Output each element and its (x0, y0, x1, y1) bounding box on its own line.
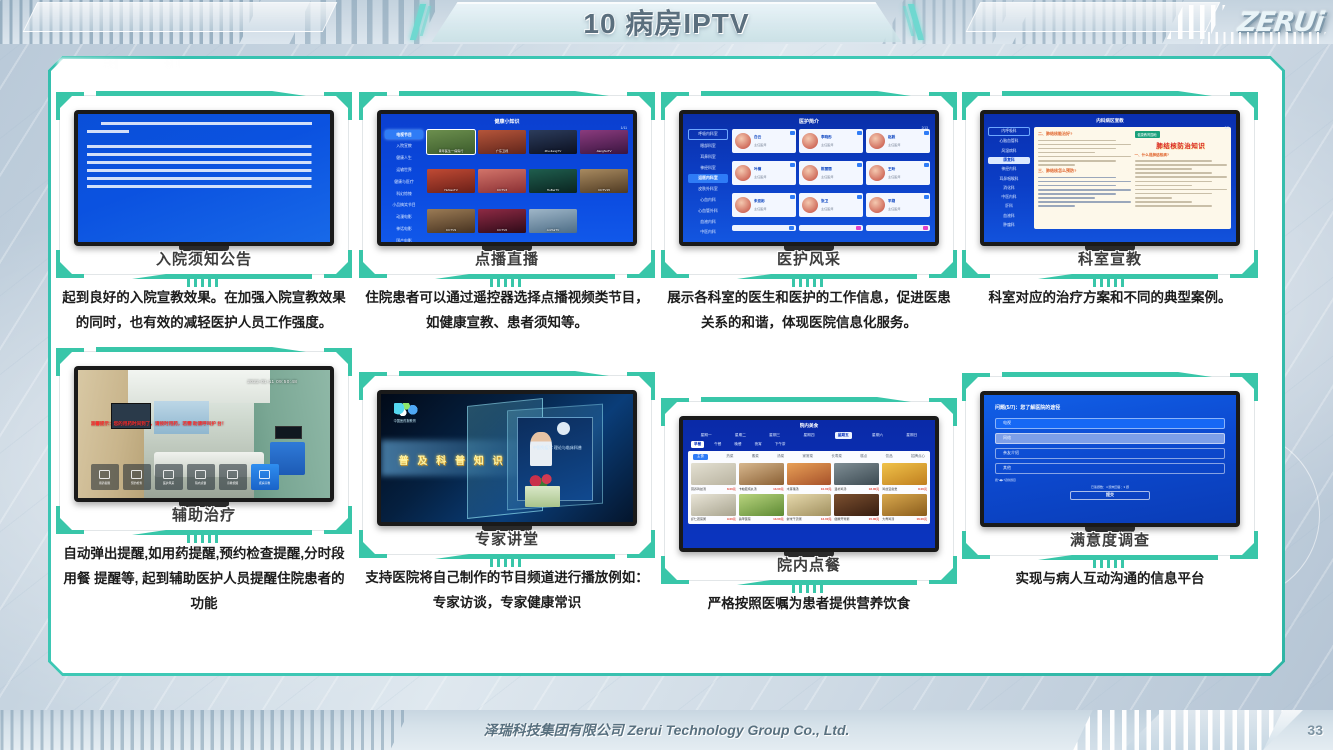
survey-submit-button[interactable]: 提交 (1070, 491, 1150, 500)
meals-time-tabs[interactable]: 早餐 午餐 晚餐 夜宵 下午茶 (683, 439, 935, 448)
card-label: 医护风采 (665, 248, 953, 269)
category-tab-selected[interactable]: 主食 (693, 454, 708, 461)
vod-menu-item[interactable]: 入院宣教 (385, 142, 423, 151)
doctors-screen: 医护简介 2/13 呼吸内科室 眼部科室 耳鼻科室 神经科室 运医内科室 皮肤外… (683, 114, 935, 242)
cards-grid: 入院须知公告 起到良好的入院宣教效果。在加强入院宣教效果的同时，也有效的减轻医护… (60, 96, 1275, 656)
doctor-card[interactable]: 李晓彤主任医师 (799, 129, 863, 153)
vod-tile[interactable]: CCTV3 (478, 169, 526, 193)
tv-monitor[interactable]: 医护简介 2/13 呼吸内科室 眼部科室 耳鼻科室 神经科室 运医内科室 皮肤外… (679, 110, 939, 246)
doctors-menu-item[interactable]: 呼吸内科室 (688, 129, 728, 140)
vod-tile[interactable]: CCTV6 (478, 209, 526, 233)
meal-item[interactable]: 木耳猪汤10.00元 (787, 463, 832, 491)
avatar (802, 165, 818, 181)
vod-menu-item[interactable]: 科幻惊悚 (385, 189, 423, 198)
card-caption: 支持医院将自己制作的节目频道进行播放例如：专家访谈，专家健康常识 (363, 566, 651, 616)
vod-menu[interactable]: 电视节目 入院宣教 健康人生 运输世界 健康与医疗 科幻惊悚 小品搞笑节目 动漫… (385, 130, 423, 242)
card-rail-top (1002, 91, 1212, 96)
card-vod[interactable]: 健康小知识 1/11 电视节目 入院宣教 健康人生 运输世界 健康与医疗 科幻惊… (363, 96, 651, 274)
avatar (802, 197, 818, 213)
doctors-menu-item[interactable]: 心血管外科 (688, 206, 728, 215)
card-tick-icon (1093, 559, 1127, 568)
card-caption: 实现与病人互动沟通的信息平台 (966, 567, 1254, 592)
footer-stripe-decor (0, 710, 410, 750)
meal-item[interactable]: 鸡丝豆腐羹8.00元 (882, 463, 927, 491)
lecture-headline: 普 及 科 普 知 识 (399, 452, 506, 467)
doctor-card[interactable]: 陈丽丽主任医师 (799, 161, 863, 185)
card-rail-top (1002, 372, 1212, 377)
card-rail-top (701, 91, 911, 96)
avatar (735, 133, 751, 149)
badge-icon (857, 163, 862, 167)
card-notice[interactable]: 入院须知公告 (60, 96, 348, 274)
card-assist-therapy[interactable]: 2022-01-11 09:50:48 温馨提示：您的用药时间到了，请按时用药，… (60, 352, 348, 530)
education-menu-item[interactable]: 消化科 (988, 185, 1030, 192)
card-rail-top (701, 397, 911, 402)
card-caption: 起到良好的入院宣教效果。在加强入院宣教效果的同时，也有效的减轻医护人员工作强度。 (60, 286, 348, 336)
meal-item[interactable]: 卡帕菇炖丸汤13.00元 (739, 463, 784, 491)
progress-bar (732, 225, 796, 231)
grid-column: 医护简介 2/13 呼吸内科室 眼部科室 耳鼻科室 神经科室 运医内科室 皮肤外… (665, 96, 967, 617)
tv-monitor[interactable] (74, 110, 334, 246)
card-survey[interactable]: 问题(5/7)：您了解医院的途径 电视 网络 亲友介绍 其他 按"◀▶"切换题目… (966, 377, 1254, 555)
meals-item-grid[interactable]: 营养鸡丝汤8.00元 卡帕菇炖丸汤13.00元 木耳猪汤10.00元 温补鸡汤1… (691, 463, 927, 521)
vod-body: 电视节目 入院宣教 健康人生 运输世界 健康与医疗 科幻惊悚 小品搞笑节目 动漫… (381, 125, 633, 242)
education-document: 二、肺结核能治好? 三、肺结核怎么预防? (1034, 127, 1231, 229)
tv-screen: 院内美食 星期一 星期二 星期三 星期四 星期五 星期六 星期日 早餐 (683, 420, 935, 548)
badge-icon (790, 131, 795, 135)
card-tick-icon (490, 278, 524, 287)
education-doc-column: 健康教育园地 肺结核防治知识 一、什么是肺结核病? (1135, 131, 1228, 225)
card-label: 入院须知公告 (60, 248, 348, 269)
card-label: 满意度调查 (966, 529, 1254, 550)
card-rail-bottom (435, 554, 615, 559)
education-menu-item[interactable]: 神经内科 (988, 166, 1030, 173)
card-label: 专家讲堂 (363, 528, 651, 549)
card-tick-icon (187, 278, 221, 287)
bracket-right-icon (899, 4, 925, 40)
day-tab[interactable]: 星期日 (903, 432, 920, 439)
tv-screen: 医护简介 2/13 呼吸内科室 眼部科室 耳鼻科室 神经科室 运医内科室 皮肤外… (683, 114, 935, 242)
dock-item[interactable]: 院内点餐 (187, 464, 215, 490)
education-section-heading: 三、肺结核怎么预防? (1038, 168, 1131, 174)
badge-icon (790, 195, 795, 199)
vod-menu-item[interactable]: 神话电影 (385, 224, 423, 233)
tv-monitor[interactable]: 中国医药报教育 普 及 科 普 知 识 中国免疫学 理论与临床科普 (377, 390, 637, 526)
badge-icon (857, 131, 862, 135)
logo-hatch-icon (1200, 32, 1326, 44)
education-section-heading: 一、什么是肺结核病? (1135, 153, 1228, 158)
vod-menu-item[interactable]: 动漫电影 (385, 212, 423, 221)
survey-option[interactable]: 其他 (995, 463, 1225, 474)
lecture-brand-name: 中国医药报教育 (394, 418, 420, 423)
education-headline: 肺结核防治知识 (1135, 140, 1228, 150)
category-tab[interactable]: 家常菜 (803, 454, 814, 461)
doctors-menu-item[interactable]: 耳鼻科室 (688, 153, 728, 162)
vod-tile[interactable]: 青年医生一病房行 (427, 130, 475, 154)
vod-tile-grid[interactable]: 青年医生一病房行 广东卫视 ZheJiangTV JiangSuTV HuNan… (427, 130, 628, 242)
tv-screen: 内科病区宣教 2/2 内呼吸科 心脑血管科 风湿病科 康复科 神经内科 耳鼻咽喉… (984, 114, 1236, 242)
avatar (869, 165, 885, 181)
meals-panel: 主食 热菜 素菜 汤菜 家常菜 长寿菜 糕点 饮品 招牌点心 (688, 451, 930, 525)
vod-tile[interactable]: JiangSuTV (580, 130, 628, 154)
doctor-card[interactable]: 张卫主任医师 (799, 193, 863, 217)
notice-screen (78, 114, 330, 242)
dock-item[interactable]: 用药提醒 (91, 464, 119, 490)
doctors-menu-item[interactable]: 神经科室 (688, 163, 728, 172)
education-menu-item[interactable]: 血液科 (988, 212, 1030, 219)
card-label: 点播直播 (363, 248, 651, 269)
card-caption: 严格按照医嘱为患者提供营养饮食 (665, 592, 953, 617)
card-rail-bottom (132, 274, 312, 279)
card-rail-bottom (132, 530, 312, 535)
time-tab[interactable]: 午餐 (711, 441, 724, 448)
doctors-menu-item[interactable]: 运医内科室 (688, 174, 728, 183)
brand-logo: ZERUi (1173, 2, 1323, 42)
card-tick-icon (792, 584, 826, 593)
card-tick-icon (490, 558, 524, 567)
vod-tile[interactable]: CCTV9 (427, 209, 475, 233)
avatar (869, 197, 885, 213)
tv-screen: 2022-01-11 09:50:48 温馨提示：您的用药时间到了，请按时用药，… (78, 370, 330, 498)
meal-item[interactable]: 营养鸡丝汤8.00元 (691, 463, 736, 491)
card-tick-icon (792, 278, 826, 287)
survey-note: 按"◀▶"切换题目 (995, 478, 1225, 482)
ward-room-screen: 2022-01-11 09:50:48 温馨提示：您的用药时间到了，请按时用药，… (78, 370, 330, 498)
molecule-icon (394, 403, 420, 416)
footer-company-name: 泽瑞科技集团有限公司 Zerui Technology Group Co., L… (484, 720, 850, 740)
time-tab[interactable]: 晚餐 (731, 441, 744, 448)
lecture-panel-text: 中国免疫学 理论与临床科普 (522, 445, 593, 451)
education-menu-item[interactable]: 中医内科 (988, 194, 1030, 201)
meal-item[interactable]: 鲜米干贝粥12.00元 (787, 494, 832, 522)
education-menu-item[interactable]: 肿瘤科 (988, 222, 1030, 229)
header-plate-left (23, 2, 338, 32)
tv-monitor[interactable]: 内科病区宣教 2/2 内呼吸科 心脑血管科 风湿病科 康复科 神经内科 耳鼻咽喉… (980, 110, 1240, 246)
room-timestamp: 2022-01-11 09:50:48 (247, 379, 297, 384)
time-tab-selected[interactable]: 早餐 (691, 441, 704, 448)
card-caption: 科室对应的治疗方案和不同的典型案例。 (966, 286, 1254, 311)
time-tab[interactable]: 夜宵 (752, 441, 765, 448)
survey-question: 问题(5/7)：您了解医院的途径 (995, 404, 1225, 411)
tv-screen: 健康小知识 1/11 电视节目 入院宣教 健康人生 运输世界 健康与医疗 科幻惊… (381, 114, 633, 242)
card-rail-top (399, 371, 609, 376)
day-tab[interactable]: 星期四 (800, 432, 817, 439)
doctors-body: 呼吸内科室 眼部科室 耳鼻科室 神经科室 运医内科室 皮肤外科室 心血内科 心血… (683, 125, 935, 241)
badge-icon (857, 195, 862, 199)
card-rail-bottom (435, 274, 615, 279)
avatar (735, 197, 751, 213)
card-doctors[interactable]: 医护简介 2/13 呼吸内科室 眼部科室 耳鼻科室 神经科室 运医内科室 皮肤外… (665, 96, 953, 274)
vod-tile[interactable]: CCTV15 (580, 169, 628, 193)
card-rail-top (399, 91, 609, 96)
lecture-screen: 中国医药报教育 普 及 科 普 知 识 中国免疫学 理论与临床科普 (381, 394, 633, 522)
education-body: 内呼吸科 心脑血管科 风湿病科 康复科 神经内科 耳鼻咽喉科 消化科 中医内科 … (984, 124, 1236, 233)
doctor-card[interactable]: 白云主任医师 (732, 129, 796, 153)
doctors-menu-item[interactable]: 血液内科 (688, 217, 728, 226)
room-alert-text: 温馨提示：您的用药时间到了，请按时用药，若需 助请呼叫护 台！ (91, 421, 323, 427)
survey-option[interactable]: 亲友介绍 (995, 448, 1225, 459)
card-rail-bottom (737, 274, 917, 279)
meal-item[interactable]: 翡翠菠菜13.00元 (739, 494, 784, 522)
doctor-card[interactable]: 赵毅主任医师 (866, 129, 930, 153)
vod-tile[interactable]: AnHuiTV (529, 209, 577, 233)
card-caption: 住院患者可以通过遥控器选择点播视频类节目，如健康宣教、患者须知等。 (363, 286, 651, 336)
vod-screen: 健康小知识 1/11 电视节目 入院宣教 健康人生 运输世界 健康与医疗 科幻惊… (381, 114, 633, 242)
badge-icon (924, 163, 929, 167)
badge-icon (924, 195, 929, 199)
vod-menu-item[interactable]: 运输世界 (385, 165, 423, 174)
education-doc-column: 二、肺结核能治好? 三、肺结核怎么预防? (1038, 131, 1131, 225)
card-rail-bottom (737, 580, 917, 585)
education-menu-item[interactable]: 耳鼻咽喉科 (988, 175, 1030, 182)
vod-menu-item[interactable]: 电视节目 (385, 130, 423, 139)
meal-item[interactable]: 大骨鸡汤16.00元 (882, 494, 927, 522)
card-dept-education[interactable]: 内科病区宣教 2/2 内呼吸科 心脑血管科 风湿病科 康复科 神经内科 耳鼻咽喉… (966, 96, 1254, 274)
category-tab[interactable]: 汤菜 (777, 454, 784, 461)
tv-monitor[interactable]: 院内美食 星期一 星期二 星期三 星期四 星期五 星期六 星期日 早餐 (679, 416, 939, 552)
progress-bar (866, 225, 930, 231)
badge-icon (790, 163, 795, 167)
vod-menu-item[interactable]: 国产电影 (385, 236, 423, 242)
vod-menu-item[interactable]: 小品搞笑节目 (385, 201, 423, 210)
meals-day-tabs[interactable]: 星期一 星期二 星期三 星期四 星期五 星期六 星期日 (683, 429, 935, 439)
category-tab[interactable]: 糕点 (860, 454, 867, 461)
category-tab[interactable]: 招牌点心 (911, 454, 925, 461)
card-caption: 自动弹出提醒,如用药提醒,预约检查提醒,分时段用餐 提醒等, 起到辅助医护人员提… (60, 542, 348, 617)
day-tab-selected[interactable]: 星期五 (835, 432, 852, 439)
day-tab[interactable]: 星期六 (869, 432, 886, 439)
education-menu-item[interactable]: 康复科 (988, 157, 1030, 164)
dock-item[interactable]: 预约检查 (123, 464, 151, 490)
category-tab[interactable]: 素菜 (752, 454, 759, 461)
page-title: 10 病房IPTV (583, 2, 749, 42)
education-screen: 内科病区宣教 2/2 内呼吸科 心脑血管科 风湿病科 康复科 神经内科 耳鼻咽喉… (984, 114, 1236, 242)
education-menu-item[interactable]: 风湿病科 (988, 148, 1030, 155)
education-section-heading: 二、肺结核能治好? (1038, 131, 1131, 137)
tv-screen: 中国医药报教育 普 及 科 普 知 识 中国免疫学 理论与临床科普 (381, 394, 633, 522)
card-rail-top (96, 347, 306, 352)
badge-icon (924, 131, 929, 135)
tv-monitor[interactable]: 健康小知识 1/11 电视节目 入院宣教 健康人生 运输世界 健康与医疗 科幻惊… (377, 110, 637, 246)
education-tag: 健康教育园地 (1135, 131, 1160, 138)
frame-glow-icon (58, 58, 178, 68)
meal-item[interactable]: 健脾开胃粥15.00元 (834, 494, 879, 522)
doctors-grid[interactable]: 白云主任医师 李晓彤主任医师 赵毅主任医师 叶楠主任医师 陈丽丽主任医师 王昕主… (732, 129, 930, 237)
meals-screen: 院内美食 星期一 星期二 星期三 星期四 星期五 星期六 星期日 早餐 (683, 420, 935, 548)
vod-tile[interactable]: ZheJiangTV (529, 130, 577, 154)
category-tab[interactable]: 饮品 (886, 454, 893, 461)
doctor-card[interactable]: 平刚主任医师 (866, 193, 930, 217)
card-tick-icon (1093, 278, 1127, 287)
page-number: 33 (1307, 722, 1323, 738)
day-tab[interactable]: 星期二 (732, 432, 749, 439)
education-title: 内科病区宣教 (984, 114, 1236, 124)
education-menu[interactable]: 内呼吸科 心脑血管科 风湿病科 康复科 神经内科 耳鼻咽喉科 消化科 中医内科 … (988, 127, 1030, 229)
dock-item[interactable]: 医护风采 (155, 464, 183, 490)
education-menu-item[interactable]: 心脑血管科 (988, 138, 1030, 145)
card-label: 院内点餐 (665, 554, 953, 575)
card-rail-bottom (1038, 555, 1218, 560)
doctors-menu-item[interactable]: 眼部科室 (688, 142, 728, 151)
doctors-menu-item[interactable]: 中医内科 (688, 228, 728, 237)
tv-screen (78, 114, 330, 242)
vod-menu-item[interactable]: 健康与医疗 (385, 177, 423, 186)
card-tick-icon (187, 534, 221, 543)
footer-stripe-decor (1073, 710, 1283, 750)
education-menu-item[interactable]: 肝科 (988, 203, 1030, 210)
category-tab[interactable]: 长寿菜 (831, 454, 842, 461)
doctor-card[interactable]: 叶楠主任医师 (732, 161, 796, 185)
doctor-card[interactable]: 王昕主任医师 (866, 161, 930, 185)
page-footer: 泽瑞科技集团有限公司 Zerui Technology Group Co., L… (0, 710, 1333, 750)
vod-tile[interactable]: 广东卫视 (478, 130, 526, 154)
bracket-left-icon (409, 4, 435, 40)
meals-category-tabs[interactable]: 主食 热菜 素菜 汤菜 家常菜 长寿菜 糕点 饮品 招牌点心 (691, 454, 927, 464)
doctors-title: 医护简介 (683, 114, 935, 125)
education-page-indicator: 2/2 (1225, 126, 1229, 130)
meal-item[interactable]: 虾仁蔬菜粥9.00元 (691, 494, 736, 522)
card-caption: 展示各科室的医生和医护的工作信息，促进医患关系的和谐，体现医院信息化服务。 (665, 286, 953, 336)
page-header: 10 病房IPTV ZERUi (0, 0, 1333, 44)
survey-option-hover[interactable]: 网络 (995, 433, 1225, 444)
day-tab[interactable]: 星期一 (698, 432, 715, 439)
doctors-menu-item[interactable]: 皮肤外科室 (688, 185, 728, 194)
day-tab[interactable]: 星期三 (766, 432, 783, 439)
survey-option-selected[interactable]: 电视 (995, 418, 1225, 429)
card-label: 辅助治疗 (60, 504, 348, 525)
survey-progress: 已答题数：4 题未回答：3 题 (995, 485, 1225, 489)
tv-screen: 问题(5/7)：您了解医院的途径 电视 网络 亲友介绍 其他 按"◀▶"切换题目… (984, 395, 1236, 523)
vod-tile[interactable]: HuBeiTV (529, 169, 577, 193)
progress-bar (799, 225, 863, 231)
lecture-brand: 中国医药报教育 (394, 403, 420, 423)
avatar (869, 133, 885, 149)
avatar (735, 165, 751, 181)
card-rail-bottom (1038, 274, 1218, 279)
doctor-card[interactable]: 朱亚彬主任医师 (732, 193, 796, 217)
card-label: 科室宣教 (966, 248, 1254, 269)
meal-item[interactable]: 温补鸡汤18.00元 (834, 463, 879, 491)
card-rail-top (96, 91, 306, 96)
room-dock[interactable]: 用药提醒 预约检查 医护风采 院内点餐 宣教视频 疾病宣教 (91, 464, 279, 490)
time-tab[interactable]: 下午茶 (772, 441, 789, 448)
tv-monitor[interactable]: 2022-01-11 09:50:48 温馨提示：您的用药时间到了，请按时用药，… (74, 366, 334, 502)
doctors-menu-item[interactable]: 心血内科 (688, 196, 728, 205)
grid-column: 入院须知公告 起到良好的入院宣教效果。在加强入院宣教效果的同时，也有效的减轻医护… (60, 96, 362, 617)
avatar (802, 133, 818, 149)
category-tab[interactable]: 热菜 (726, 454, 733, 461)
vod-menu-item[interactable]: 健康人生 (385, 154, 423, 163)
vod-tile[interactable]: HuNanTV (427, 169, 475, 193)
survey-screen: 问题(5/7)：您了解医院的途径 电视 网络 亲友介绍 其他 按"◀▶"切换题目… (984, 395, 1236, 523)
grid-column: 内科病区宣教 2/2 内呼吸科 心脑血管科 风湿病科 康复科 神经内科 耳鼻咽喉… (966, 96, 1268, 592)
education-menu-item[interactable]: 内呼吸科 (988, 127, 1030, 136)
dock-item[interactable]: 宣教视频 (219, 464, 247, 490)
card-meals[interactable]: 院内美食 星期一 星期二 星期三 星期四 星期五 星期六 星期日 早餐 (665, 402, 953, 580)
vod-title: 健康小知识 (381, 114, 633, 125)
meals-title: 院内美食 (683, 420, 935, 429)
doctors-menu[interactable]: 呼吸内科室 眼部科室 耳鼻科室 神经科室 运医内科室 皮肤外科室 心血内科 心血… (688, 129, 728, 237)
grid-column: 健康小知识 1/11 电视节目 入院宣教 健康人生 运输世界 健康与医疗 科幻惊… (363, 96, 665, 616)
card-expert-lecture[interactable]: 中国医药报教育 普 及 科 普 知 识 中国免疫学 理论与临床科普 专家讲堂 (363, 376, 651, 554)
tv-monitor[interactable]: 问题(5/7)：您了解医院的途径 电视 网络 亲友介绍 其他 按"◀▶"切换题目… (980, 391, 1240, 527)
dock-item-active[interactable]: 疾病宣教 (251, 464, 279, 490)
title-container: 10 病房IPTV (387, 0, 947, 44)
